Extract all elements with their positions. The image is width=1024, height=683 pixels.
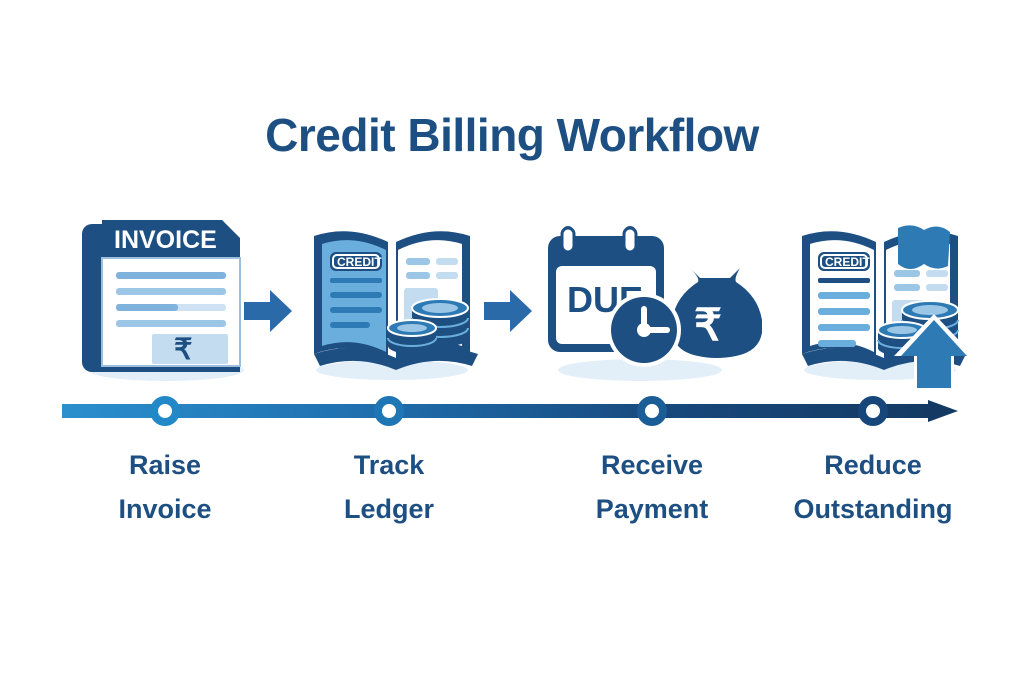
due-calendar-clock-moneybag-icon: DUE ₹ [532, 212, 732, 392]
clock-icon [607, 293, 681, 367]
step-label-2: Track Ledger [269, 443, 509, 531]
arrow-ledger-to-payment-icon [482, 288, 534, 334]
timeline-arrowhead-icon [928, 400, 958, 422]
timeline-track [62, 396, 962, 428]
timeline-node-1[interactable] [150, 396, 180, 426]
invoice-header-text: INVOICE [114, 226, 217, 254]
step-label-3: Receive Payment [532, 443, 772, 531]
arrow-invoice-to-ledger-icon [242, 288, 294, 334]
credit-badge-text: CREDIT [825, 255, 870, 269]
timeline-node-3[interactable] [637, 396, 667, 426]
rupee-symbol-icon: ₹ [174, 334, 192, 366]
step-label-1: Raise Invoice [45, 443, 285, 531]
money-bag-icon: ₹ [672, 268, 762, 358]
credit-ledger-book-icon: CREDIT [300, 212, 500, 392]
step-label-3-line1: Receive [532, 443, 772, 487]
step-label-4-line2: Outstanding [753, 487, 993, 531]
workflow-diagram: Credit Billing Workflow INVOICE ₹ [0, 0, 1024, 683]
step-label-1-line2: Invoice [45, 487, 285, 531]
timeline-node-2[interactable] [374, 396, 404, 426]
invoice-document-icon: INVOICE ₹ [68, 212, 268, 392]
credit-ledger-reduce-icon: CREDIT [788, 212, 988, 392]
step-label-4-line1: Reduce [753, 443, 993, 487]
step-label-4: Reduce Outstanding [753, 443, 993, 531]
rupee-symbol-icon: ₹ [694, 301, 722, 350]
credit-badge-text: CREDIT [337, 255, 382, 269]
step-label-2-line1: Track [269, 443, 509, 487]
step-label-2-line2: Ledger [269, 487, 509, 531]
step-label-1-line1: Raise [45, 443, 285, 487]
step-label-3-line2: Payment [532, 487, 772, 531]
page-title: Credit Billing Workflow [0, 108, 1024, 162]
timeline-node-4[interactable] [858, 396, 888, 426]
